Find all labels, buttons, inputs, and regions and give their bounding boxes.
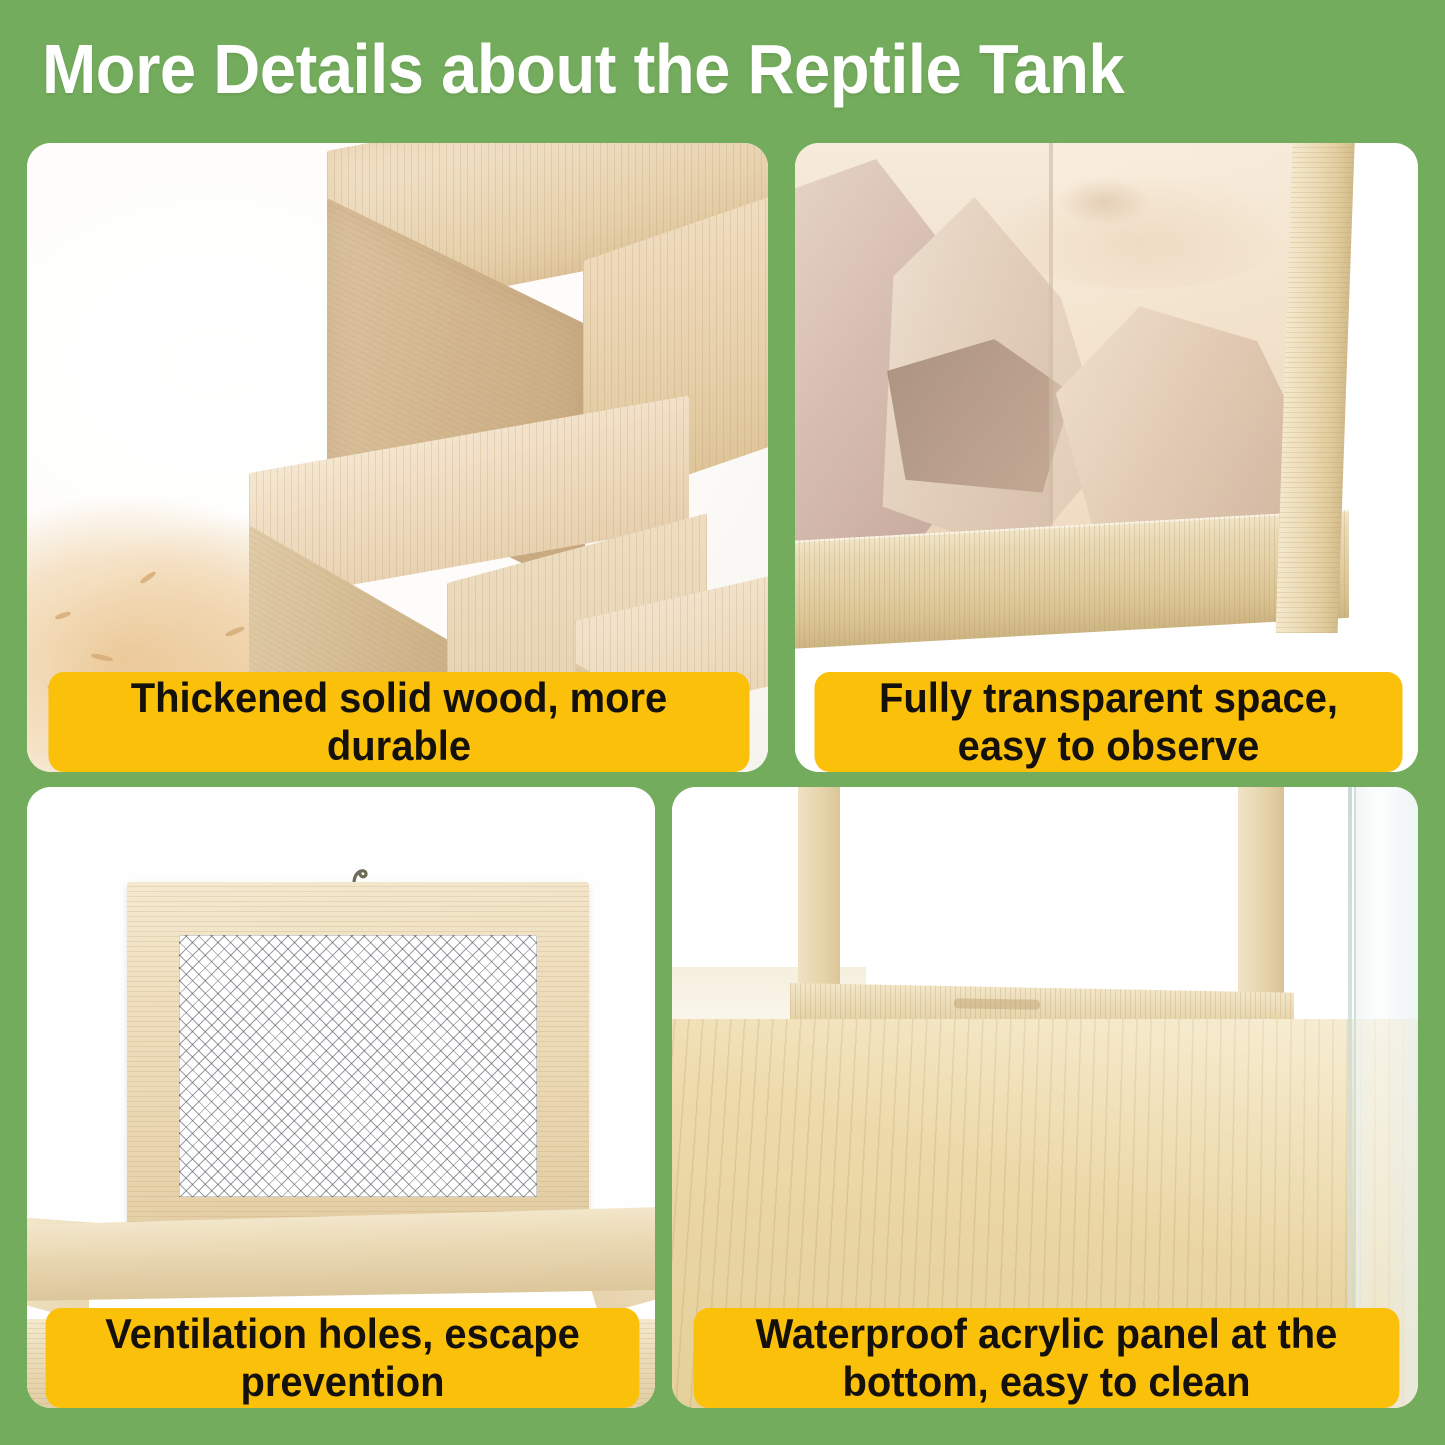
page-title: More Details about the Reptile Tank: [42, 24, 1316, 114]
latch-hook-icon: [349, 862, 373, 884]
caption-line: prevention: [105, 1358, 580, 1406]
caption-line: bottom, easy to clean: [756, 1358, 1338, 1406]
caption-waterproof-bottom: Waterproof acrylic panel at the bottom, …: [694, 1308, 1400, 1408]
caption-line: Thickened solid wood, more durable: [62, 674, 737, 770]
caption-ventilation: Ventilation holes, escape prevention: [46, 1308, 640, 1408]
caption-transparent-space: Fully transparent space, easy to observe: [814, 672, 1402, 772]
caption-solid-wood: Thickened solid wood, more durable: [48, 672, 749, 772]
caption-line: Waterproof acrylic panel at the: [756, 1310, 1338, 1358]
caption-line: Fully transparent space,: [879, 674, 1338, 722]
caption-line: Ventilation holes, escape: [105, 1310, 580, 1358]
infographic-canvas: More Details about the Reptile Tank: [0, 0, 1445, 1445]
caption-line: easy to observe: [879, 722, 1338, 770]
